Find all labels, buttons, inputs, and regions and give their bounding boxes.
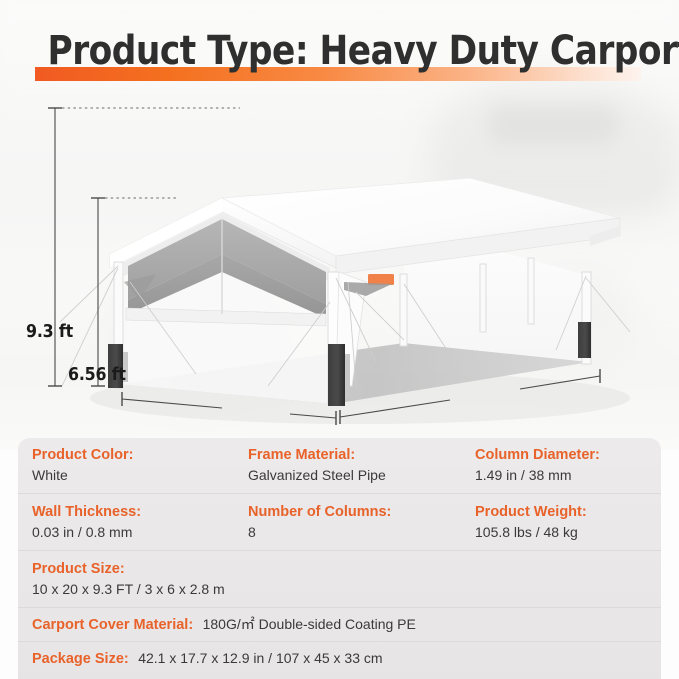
column-mid-far bbox=[400, 274, 407, 346]
spec-value: 10 x 20 x 9.3 FT / 3 x 6 x 2.8 m bbox=[32, 579, 661, 599]
spec-value: 42.1 x 17.7 x 12.9 in / 107 x 45 x 33 cm bbox=[138, 650, 382, 666]
spec-cell-wall-thickness: Wall Thickness: 0.03 in / 0.8 mm bbox=[18, 503, 248, 550]
spec-value: 0.03 in / 0.8 mm bbox=[32, 522, 248, 542]
spec-row-1: Product Color: White Frame Material: Gal… bbox=[18, 437, 661, 494]
dimension-label-height-total: 9.3 ft bbox=[26, 321, 73, 342]
footing-bracket-right bbox=[345, 354, 350, 398]
spec-value: White bbox=[32, 465, 248, 485]
spec-value: 180G/㎡ Double-sided Coating PE bbox=[203, 616, 416, 632]
spec-value: 105.8 lbs / 48 kg bbox=[475, 522, 661, 542]
page-title: Product Type: Heavy Duty Carport bbox=[48, 24, 632, 78]
spec-label: Number of Columns: bbox=[248, 503, 475, 522]
spec-value: 1.49 in / 38 mm bbox=[475, 465, 661, 485]
infographic-page: Product Type: Heavy Duty Carport bbox=[0, 0, 679, 679]
column-rear bbox=[528, 258, 534, 324]
spec-row-2: Wall Thickness: 0.03 in / 0.8 mm Number … bbox=[18, 494, 661, 551]
spec-label: Wall Thickness: bbox=[32, 503, 248, 522]
spec-row-cover-material: Carport Cover Material: 180G/㎡ Double-si… bbox=[18, 608, 661, 642]
spec-label: Frame Material: bbox=[248, 446, 475, 465]
spec-cell-frame-material: Frame Material: Galvanized Steel Pipe bbox=[248, 446, 475, 493]
spec-label: Column Diameter: bbox=[475, 446, 661, 465]
title-block: Product Type: Heavy Duty Carport bbox=[0, 24, 679, 86]
spec-label: Package Size: bbox=[32, 651, 129, 667]
spec-value: Galvanized Steel Pipe bbox=[248, 465, 475, 485]
spec-label: Product Color: bbox=[32, 446, 248, 465]
spec-label: Product Size: bbox=[32, 560, 661, 579]
carport-illustration: 9.3 ft 6.56 ft 10 ft 20 ft bbox=[0, 86, 679, 436]
spec-label: Carport Cover Material: bbox=[32, 617, 193, 633]
specifications-panel: Product Color: White Frame Material: Gal… bbox=[18, 437, 661, 679]
footing-rear-right bbox=[578, 322, 591, 358]
spec-row-product-size: Product Size: 10 x 20 x 9.3 FT / 3 x 6 x… bbox=[18, 551, 661, 608]
spec-value: 8 bbox=[248, 522, 475, 542]
spec-cell-column-diameter: Column Diameter: 1.49 in / 38 mm bbox=[475, 446, 661, 493]
spec-cell-product-weight: Product Weight: 105.8 lbs / 48 kg bbox=[475, 503, 661, 550]
spec-row-package-size: Package Size: 42.1 x 17.7 x 12.9 in / 10… bbox=[18, 642, 661, 675]
dimension-label-height-eave: 6.56 ft bbox=[68, 364, 126, 385]
spec-label: Product Weight: bbox=[475, 503, 661, 522]
spec-cell-product-color: Product Color: White bbox=[18, 446, 248, 493]
spec-cell-number-of-columns: Number of Columns: 8 bbox=[248, 503, 475, 550]
column-rear-mid bbox=[480, 264, 486, 332]
footing-front-right bbox=[328, 344, 345, 406]
